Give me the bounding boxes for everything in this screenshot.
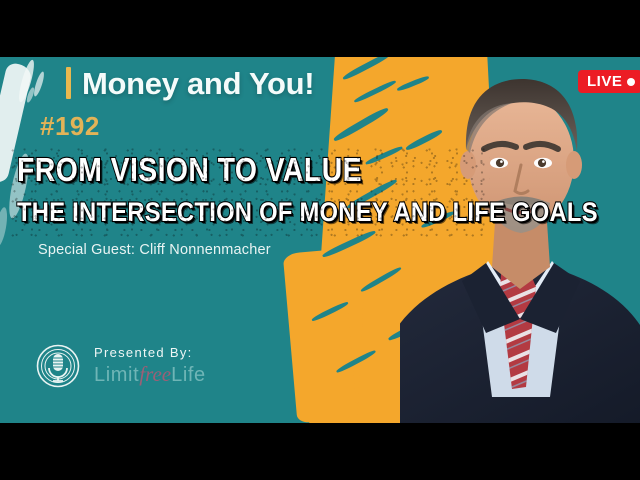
episode-number: #192 <box>40 113 100 139</box>
presented-by-label: Presented By: <box>94 345 206 360</box>
thumbnail-canvas: LIVE Money and You! #192 FROM VISION TO … <box>0 57 640 423</box>
show-title-row: Money and You! <box>66 67 314 99</box>
guest-line: Special Guest: Cliff Nonnenmacher <box>38 242 271 258</box>
headline-line-2: THE INTERSECTION OF MONEY AND LIFE GOALS <box>17 199 598 226</box>
live-badge: LIVE <box>578 70 640 93</box>
brand-part-limit: Limit <box>94 364 139 386</box>
presenter-text-block: Presented By: LimitfreeLife <box>94 345 206 387</box>
live-label: LIVE <box>587 74 622 89</box>
brand-part-life: Life <box>171 364 206 386</box>
video-thumbnail: LIVE Money and You! #192 FROM VISION TO … <box>0 0 640 480</box>
speaker-portrait <box>400 57 640 423</box>
brand-wordmark: LimitfreeLife <box>94 362 206 387</box>
brand-part-free: free <box>139 362 171 386</box>
microphone-icon <box>36 344 80 388</box>
show-title: Money and You! <box>82 68 314 99</box>
headline-line-1: FROM VISION TO VALUE <box>17 153 362 186</box>
gold-accent-bar <box>66 67 71 99</box>
record-dot-icon <box>627 78 635 86</box>
presenter-logo: Presented By: LimitfreeLife <box>36 344 206 388</box>
